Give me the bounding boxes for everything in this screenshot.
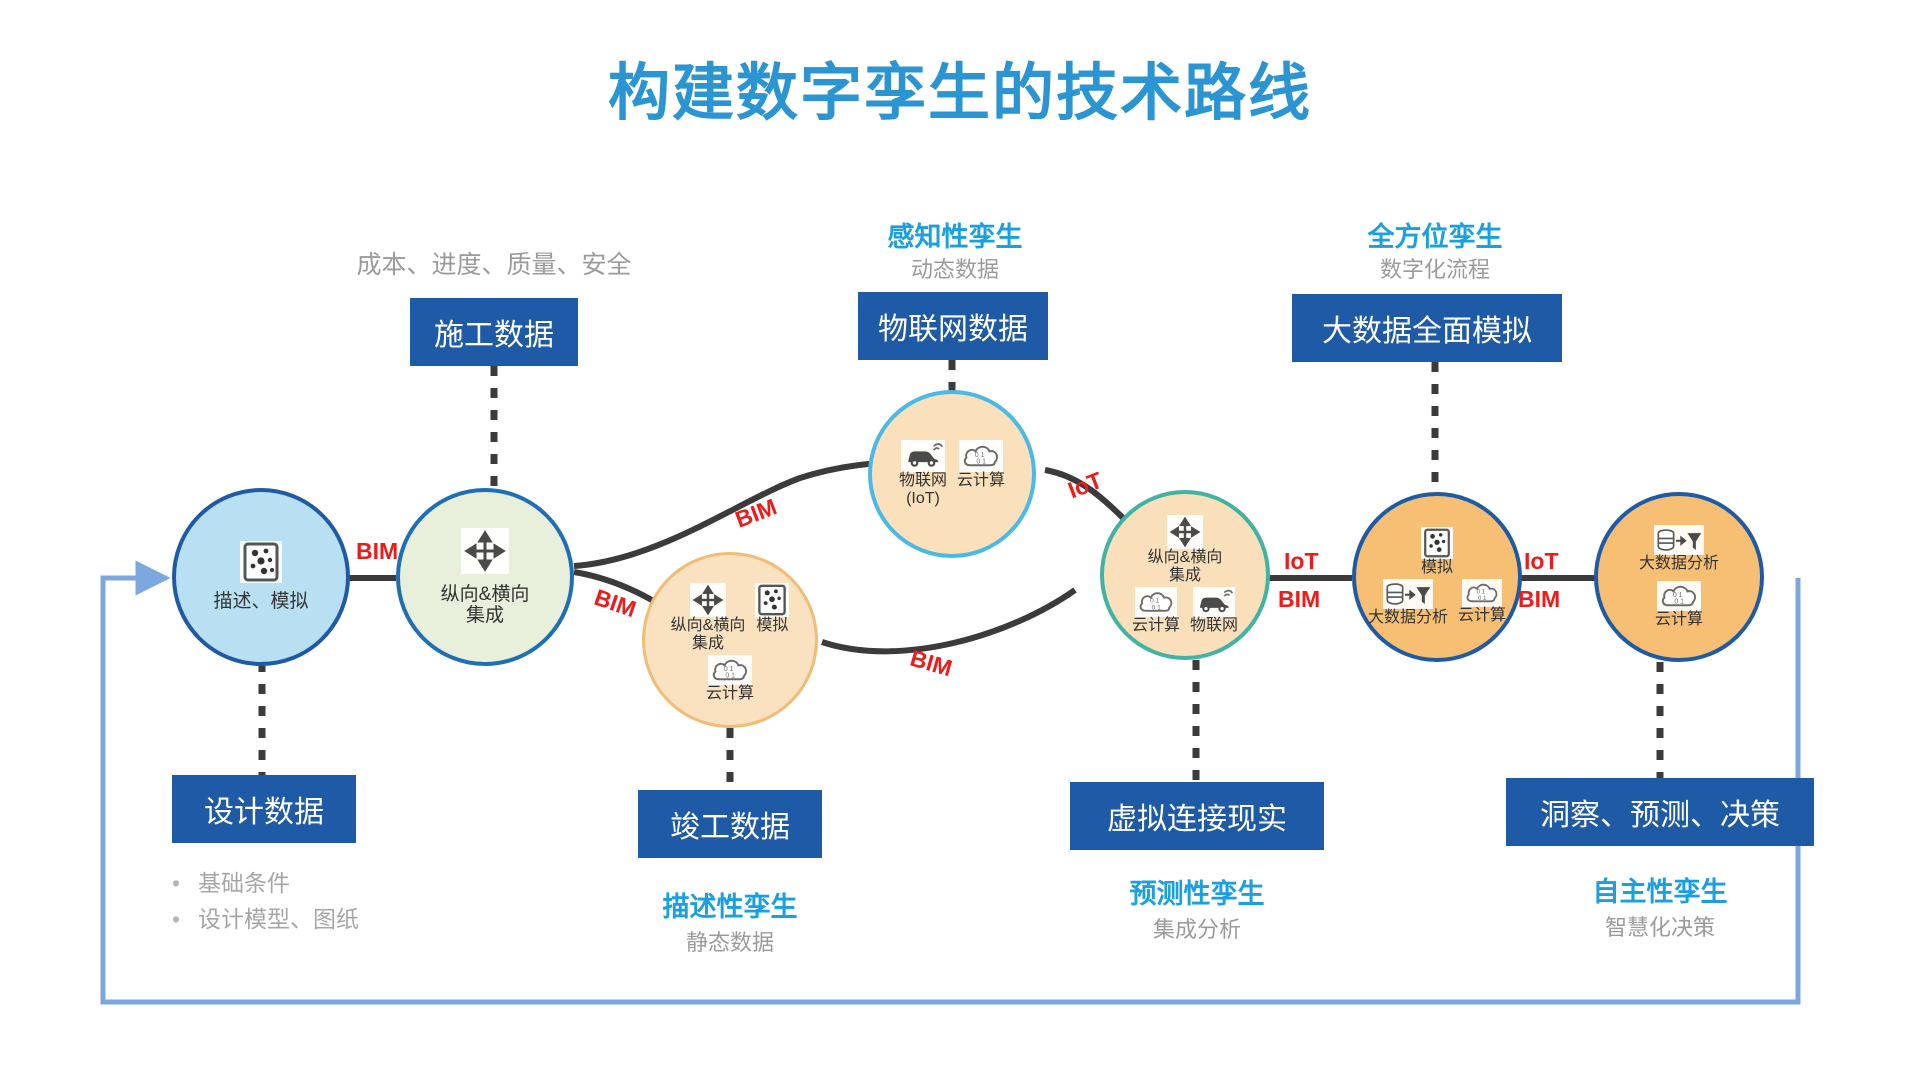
box-label: 物联网数据 — [878, 304, 1028, 348]
circle-item-label: 描述、模拟 — [213, 591, 308, 612]
edge-tag-bim-6: BIM — [1518, 586, 1560, 613]
edge-tag-bim-5: BIM — [1278, 586, 1320, 613]
edge-tag-bim-4: BIM — [907, 645, 955, 683]
svg-text:0 1: 0 1 — [976, 459, 986, 466]
box-bigdata-sim[interactable]: 大数据全面模拟 — [1292, 294, 1562, 362]
data-dots-icon — [755, 583, 789, 617]
bullet-dot: • — [172, 902, 198, 938]
circle-item-label: 大数据分析 — [1368, 609, 1448, 627]
bigdata-funnel-icon — [1383, 579, 1433, 609]
circle-item-label: 云计算 — [1655, 611, 1703, 629]
bigdata-funnel-icon — [1654, 525, 1704, 555]
cloud-binary-icon: 0 1 0 1 — [1462, 579, 1502, 607]
cloud-binary-icon: 0 1 0 1 — [1657, 581, 1701, 611]
bullet-text: 设计模型、图纸 — [198, 906, 359, 932]
cloud-binary-icon: 0 1 0 1 — [959, 440, 1003, 472]
data-dots-icon — [240, 541, 282, 583]
construction-gray-caption: 成本、进度、质量、安全 — [334, 245, 654, 281]
autonomous-twin-subcaption: 智慧化决策 — [1535, 910, 1785, 942]
label-line-1: 纵向&横向 — [671, 617, 746, 634]
label-line-1: 纵向&横向 — [1148, 549, 1223, 566]
label-line-2: 集成 — [1169, 567, 1201, 584]
omni-twin-subcaption: 数字化流程 — [1310, 252, 1560, 284]
connected-car-icon — [901, 440, 945, 472]
box-label: 虚拟连接现实 — [1107, 794, 1287, 838]
cloud-binary-icon: 0 1 0 1 — [1135, 587, 1177, 617]
sensing-twin-subcaption: 动态数据 — [830, 252, 1080, 284]
svg-text:0 1: 0 1 — [1152, 604, 1161, 611]
svg-text:0 1: 0 1 — [1674, 599, 1684, 606]
edge-tag-iot-3: IoT — [1524, 548, 1559, 575]
predictive-twin-subcaption: 集成分析 — [1072, 912, 1322, 944]
cluster-item-iot: 物联网 — [1190, 587, 1238, 635]
bullet-text: 基础条件 — [198, 870, 290, 896]
circle-item-label: 物联网 (IoT) — [899, 472, 947, 508]
cluster-item-simulate: 模拟 — [1421, 527, 1453, 577]
bullet-dot: • — [172, 866, 198, 902]
cluster-item-integration: 纵向&横向 集成 — [671, 583, 746, 653]
circle-item-label: 云计算 — [706, 685, 754, 703]
circle-item-label: 云计算 — [1458, 607, 1506, 625]
box-label: 大数据全面模拟 — [1322, 306, 1532, 350]
circle-autonomous-cluster[interactable]: 大数据分析 0 1 0 1 云计算 — [1594, 492, 1764, 662]
sensing-twin-caption: 感知性孪生 — [830, 215, 1080, 254]
edge-asbuilt-predictive — [822, 590, 1075, 651]
cluster-item-bigdata: 大数据分析 — [1639, 525, 1719, 573]
label-line-1: 物联网 — [899, 472, 947, 489]
cluster-item-integration: 纵向&横向 集成 — [1148, 515, 1223, 585]
box-design-data[interactable]: 设计数据 — [172, 775, 356, 843]
predictive-twin-caption: 预测性孪生 — [1072, 872, 1322, 911]
svg-text:0 1: 0 1 — [975, 452, 985, 459]
circle-iot-cluster[interactable]: 物联网 (IoT) 0 1 0 1 云计算 — [868, 390, 1036, 558]
circle-item-label: 物联网 — [1190, 617, 1238, 635]
cluster-item-cloud: 0 1 0 1 云计算 — [706, 655, 754, 703]
connected-car-icon — [1193, 587, 1235, 617]
four-way-arrow-icon — [690, 583, 726, 617]
circle-item-label: 纵向&横向 集成 — [1148, 549, 1223, 585]
box-iot-data[interactable]: 物联网数据 — [858, 292, 1048, 360]
circle-describe-simulate[interactable]: 描述、模拟 — [172, 488, 350, 666]
circle-item-label: 模拟 — [1421, 559, 1453, 577]
svg-text:0 1: 0 1 — [725, 673, 735, 680]
box-label: 施工数据 — [434, 310, 554, 354]
cluster-item-cloud: 0 1 0 1 云计算 — [1655, 581, 1703, 629]
edge-tag-bim-1: BIM — [356, 538, 398, 565]
box-label: 竣工数据 — [670, 802, 790, 846]
circle-as-built-cluster[interactable]: 纵向&横向 集成 模拟 0 1 0 1 云计算 — [642, 552, 818, 728]
cluster-item-cloud: 0 1 0 1 云计算 — [1132, 587, 1180, 635]
autonomous-twin-caption: 自主性孪生 — [1535, 870, 1785, 909]
cluster-item-simulate: 模拟 — [755, 583, 789, 635]
label-line-2: 集成 — [466, 605, 504, 626]
circle-item-label: 大数据分析 — [1639, 555, 1719, 573]
cloud-binary-icon: 0 1 0 1 — [708, 655, 752, 685]
circle-item-label: 模拟 — [756, 617, 788, 635]
edge-tag-iot-2: IoT — [1284, 548, 1319, 575]
descriptive-twin-subcaption: 静态数据 — [605, 925, 855, 957]
cluster-item-bigdata: 大数据分析 — [1368, 579, 1448, 627]
circle-omni-cluster[interactable]: 模拟 大数据分析 0 1 — [1352, 492, 1522, 662]
design-data-bullets: •基础条件 •设计模型、图纸 — [172, 866, 359, 937]
cluster-item-cloud: 0 1 0 1 云计算 — [1458, 579, 1506, 625]
box-insight-predict-decide[interactable]: 洞察、预测、决策 — [1506, 778, 1814, 846]
label-line-2: (IoT) — [906, 490, 940, 507]
circle-predictive-cluster[interactable]: 纵向&横向 集成 0 1 0 1 云计算 — [1100, 490, 1270, 660]
label-line-2: 集成 — [692, 635, 724, 652]
svg-text:0 1: 0 1 — [1478, 595, 1487, 602]
label-line-1: 纵向&横向 — [441, 584, 530, 605]
page-title: 构建数字孪生的技术路线 — [0, 42, 1920, 132]
svg-text:0 1: 0 1 — [724, 666, 734, 673]
box-construction-data[interactable]: 施工数据 — [410, 298, 578, 366]
svg-text:0 1: 0 1 — [1673, 592, 1683, 599]
box-label: 洞察、预测、决策 — [1540, 790, 1780, 834]
circle-item-label: 云计算 — [1132, 617, 1180, 635]
cluster-item-iot: 物联网 (IoT) — [899, 440, 947, 508]
omni-twin-caption: 全方位孪生 — [1310, 215, 1560, 254]
box-virtual-meets-real[interactable]: 虚拟连接现实 — [1070, 782, 1324, 850]
edge-tag-iot-1: IoT — [1064, 467, 1106, 505]
data-dots-icon — [1421, 527, 1453, 559]
edge-tag-bim-3: BIM — [591, 584, 640, 623]
four-way-arrow-icon — [1167, 515, 1203, 549]
cluster-item-cloud: 0 1 0 1 云计算 — [957, 440, 1005, 490]
box-as-built-data[interactable]: 竣工数据 — [638, 790, 822, 858]
edge-tag-bim-2: BIM — [732, 493, 781, 533]
descriptive-twin-caption: 描述性孪生 — [605, 885, 855, 924]
box-label: 设计数据 — [204, 787, 324, 831]
four-way-arrow-icon — [461, 528, 509, 574]
circle-vertical-horizontal-integration[interactable]: 纵向&横向 集成 — [396, 488, 574, 666]
circle-item-label: 纵向&横向 集成 — [441, 584, 530, 627]
circle-item-label: 纵向&横向 集成 — [671, 617, 746, 653]
circle-item-label: 云计算 — [957, 472, 1005, 490]
